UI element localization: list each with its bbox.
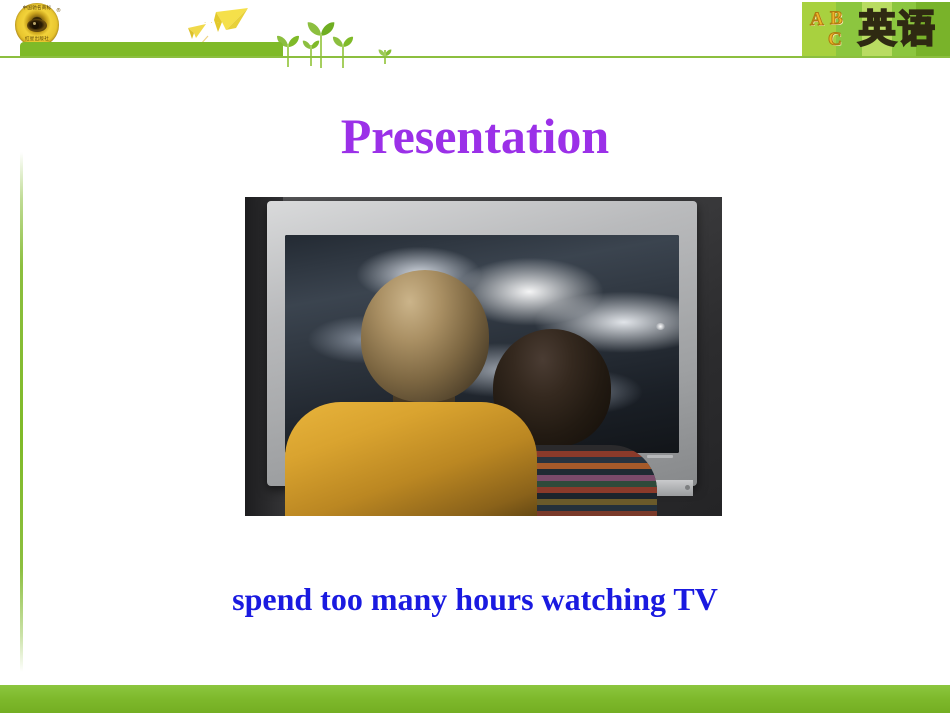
letter-a: A	[810, 10, 824, 29]
slide-root: 中国驰名商标 红星出版社 ® · · · ·	[0, 0, 950, 713]
abc-letters: A B C	[808, 6, 864, 54]
screen-highlight	[656, 323, 665, 330]
registered-mark-icon: ®	[56, 8, 61, 14]
blonde-child-body	[285, 402, 537, 516]
logo-top-text: 中国驰名商标	[15, 5, 59, 11]
slide-footer-bar	[0, 685, 950, 713]
header-divider-line	[0, 56, 950, 58]
header-accent-bar	[20, 42, 283, 57]
subject-name-chinese: 英语	[858, 4, 936, 54]
subject-brand-block: A B C 英语	[802, 2, 950, 57]
sprout-icon	[378, 44, 392, 62]
blonde-child-head	[361, 270, 489, 402]
tv-power-button-icon	[685, 485, 690, 490]
letter-b: B	[830, 9, 843, 28]
sprout-icon	[332, 35, 354, 53]
page-title: Presentation	[0, 108, 950, 164]
plane-trail-dots: · · · ·	[204, 19, 227, 27]
photo-caption: spend too many hours watching TV	[0, 578, 950, 620]
slide-header: 中国驰名商标 红星出版社 ® · · · ·	[0, 0, 950, 60]
letter-c: C	[828, 30, 842, 49]
eye-glint	[33, 22, 36, 25]
paper-plane-decoration: · · · ·	[186, 6, 256, 46]
two-children-watching-tv-photo	[245, 197, 722, 516]
